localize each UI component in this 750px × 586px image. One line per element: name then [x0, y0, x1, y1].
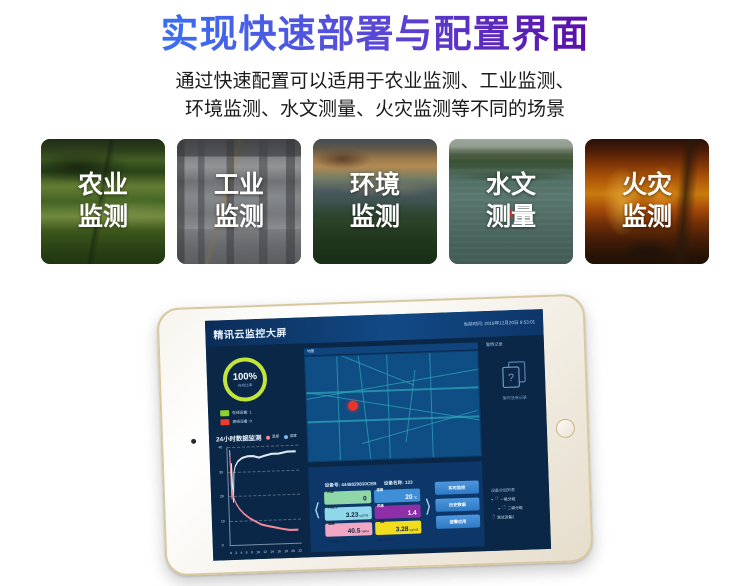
tree-node-label: 一级分组 — [500, 497, 515, 503]
device-group-caption: 设备分组列表 — [491, 486, 545, 494]
category-card-environment[interactable]: 环境监测 — [313, 139, 437, 264]
chevron-down-icon[interactable]: ▾ — [491, 498, 493, 502]
device-data-strip: ⟨ 设备号: 4448029830CEB 设备名称: 123 风速数据更新 x小… — [308, 461, 485, 552]
legend-label: 离线设备: 0 — [232, 419, 252, 425]
chart-title: 24小时数据监测 — [216, 433, 262, 444]
subtitle-line-1: 通过快速配置可以适用于农业监测、工业监测、 — [0, 68, 750, 97]
map-device-marker[interactable] — [348, 400, 358, 410]
category-card-list: 农业监测 工业监测 环境监测 水文测量 火灾监测 — [0, 139, 750, 264]
sensor-tile[interactable]: 湿度数据更新 x小时 40.5%RH — [325, 522, 372, 537]
device-icon: 🗋 — [492, 515, 495, 521]
subtitle-line-2: 环境监测、水文测量、火灾监测等不同的场景 — [0, 96, 750, 125]
category-card-industry[interactable]: 工业监测 — [177, 139, 301, 264]
page-title: 实现快速部署与配置界面 — [0, 14, 750, 58]
svg-text:?: ? — [508, 372, 515, 384]
tree-node-device[interactable]: 🗋 测试设备2 — [492, 513, 546, 521]
dashboard-main-column: 地图 — [302, 337, 489, 557]
dashboard-right-column: 警情记录 ? 暂时没有记录 设备分组列表 ▾ 🗋 — [482, 335, 551, 551]
y-tick: 30 — [219, 470, 223, 474]
tree-node-label: 测试设备2 — [497, 515, 514, 521]
tablet-frame: 精讯云监控大屏 当前时间: 2019年12月20日 9:53:01 100% 在… — [156, 294, 593, 577]
chart-plot-area: 40 30 20 10 0 — [226, 445, 301, 546]
category-card-label: 水文测量 — [486, 169, 536, 233]
device-group-tree: 设备分组列表 ▾ 🗋 一级分组 ▸ 🗋 二级分组 🗋 — [491, 486, 546, 524]
page-subtitle: 通过快速配置可以适用于农业监测、工业监测、 环境监测、水文测量、火灾监测等不同的… — [0, 68, 750, 125]
alarm-empty-text: 暂时没有记录 — [503, 395, 527, 402]
chevron-right-icon[interactable]: ▸ — [499, 507, 501, 511]
tree-node-group-1[interactable]: ▾ 🗋 一级分组 — [491, 495, 545, 503]
alarm-app-button[interactable]: 报警应用 — [436, 514, 480, 529]
device-map[interactable] — [304, 350, 482, 462]
device-status-legend: 在线设备: 1 离线设备: 0 — [220, 408, 300, 429]
chart-key-temperature: 温度 — [266, 434, 279, 439]
sensor-tile[interactable]: 气压数据更新 x小时 3.28ug/m3 — [375, 520, 422, 535]
y-tick: 10 — [221, 519, 225, 523]
chart-key-humidity: 湿度 — [284, 434, 297, 439]
category-card-label: 农业监测 — [78, 169, 128, 233]
legend-swatch-offline — [220, 419, 229, 425]
alarm-empty-state: ? 暂时没有记录 — [487, 360, 542, 402]
legend-swatch-online — [220, 410, 229, 416]
folder-icon: 🗋 — [495, 497, 498, 503]
online-ratio-gauge: 100% 在线比率 — [222, 357, 268, 403]
gauge-value: 100% — [233, 371, 258, 383]
category-card-label: 环境监测 — [350, 169, 400, 233]
realtime-monitor-button[interactable]: 实时监控 — [435, 480, 479, 495]
tablet-device: 精讯云监控大屏 当前时间: 2019年12月20日 9:53:01 100% 在… — [156, 294, 593, 577]
y-tick: 40 — [218, 445, 222, 449]
current-time-label: 当前时间: 2019年12月20日 9:53:01 — [463, 319, 535, 328]
home-button[interactable] — [556, 419, 576, 439]
alarm-panel-caption: 警情记录 — [486, 340, 540, 348]
chart-series — [227, 445, 301, 545]
dashboard-title: 精讯云监控大屏 — [213, 324, 287, 342]
category-card-label: 工业监测 — [214, 169, 264, 233]
dashboard-body: 100% 在线比率 在线设备: 1 离线设备: 0 — [206, 335, 551, 561]
category-card-label: 火灾监测 — [622, 169, 672, 233]
tree-node-label: 二级分组 — [507, 505, 522, 511]
document-question-icon: ? — [501, 361, 528, 392]
monitoring-line-chart: 40 30 20 10 0 0 2 — [216, 443, 304, 557]
front-camera-icon — [191, 439, 196, 444]
legend-item-online: 在线设备: 1 — [220, 408, 299, 417]
dashboard-left-column: 100% 在线比率 在线设备: 1 离线设备: 0 — [206, 344, 309, 561]
category-card-fire[interactable]: 火灾监测 — [585, 139, 709, 264]
legend-item-offline: 离线设备: 0 — [220, 417, 299, 426]
tree-node-group-2[interactable]: ▸ 🗋 二级分组 — [499, 504, 546, 512]
y-tick: 0 — [222, 543, 224, 547]
category-card-hydrology[interactable]: 水文测量 — [449, 139, 573, 264]
next-device-arrow[interactable]: ⟩ — [424, 497, 432, 515]
prev-device-arrow[interactable]: ⟨ — [313, 500, 321, 518]
history-data-button[interactable]: 历史数据 — [435, 497, 479, 512]
gauge-caption: 在线比率 — [238, 383, 253, 388]
y-tick: 20 — [220, 494, 224, 498]
sensor-tile-grid: 风速数据更新 x小时 0 温度数据更新 x小时 20℃ PM2.5数据更新 x小… — [324, 488, 421, 536]
folder-icon: 🗋 — [502, 505, 505, 511]
dashboard-screen: 精讯云监控大屏 当前时间: 2019年12月20日 9:53:01 100% 在… — [205, 309, 551, 561]
chart-header: 24小时数据监测 温度 湿度 — [216, 432, 300, 444]
dashboard-action-buttons: 实时监控 历史数据 报警应用 — [435, 480, 481, 529]
device-data-panel: 设备号: 4448029830CEB 设备名称: 123 风速数据更新 x小时 … — [324, 479, 422, 536]
category-card-agriculture[interactable]: 农业监测 — [41, 139, 165, 264]
legend-label: 在线设备: 1 — [232, 410, 252, 416]
chart-x-axis: 0 2 4 6 8 10 12 14 16 18 20 22 — [230, 549, 302, 556]
